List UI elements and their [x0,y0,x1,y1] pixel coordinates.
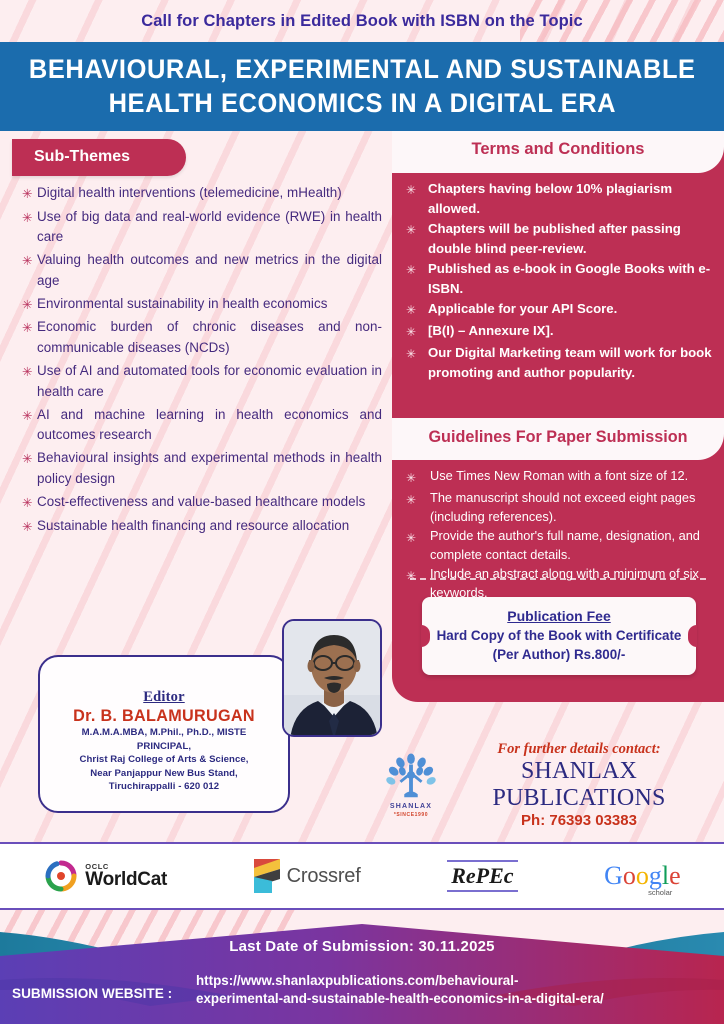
list-item: ✳Behavioural insights and experimental m… [22,448,382,489]
list-item-label: Environmental sustainability in health e… [37,294,382,315]
publisher-contact-text: For further details contact: SHANLAX PUB… [442,741,724,829]
list-item: ✳The manuscript should not exceed eight … [406,489,718,526]
list-item-label: Digital health interventions (telemedici… [37,183,382,204]
list-item: ✳Digital health interventions (telemedic… [22,183,382,204]
asterisk-bullet-icon: ✳ [22,294,37,315]
list-item: ✳Chapters having below 10% plagiarism al… [406,179,718,218]
subthemes-tab: Sub-Themes [12,139,186,176]
list-item-label: Published as e-book in Google Books with… [428,259,718,298]
terms-and-guidelines-panel: Terms and Conditions ✳Chapters having be… [392,131,724,702]
editor-name: Dr. B. BALAMURUGAN [40,707,288,726]
list-item: ✳Published as e-book in Google Books wit… [406,259,718,298]
list-item-label: Our Digital Marketing team will work for… [428,343,718,382]
publication-fee-line-2: (Per Author) Rs.800/- [493,645,626,664]
asterisk-bullet-icon: ✳ [22,361,37,382]
list-item-label: Valuing health outcomes and new metrics … [37,250,382,291]
editor-designation: PRINCIPAL, [40,740,288,754]
asterisk-bullet-icon: ✳ [406,343,428,364]
crossref-logo: Crossref [254,859,361,893]
crossref-label: Crossref [287,865,361,888]
guidelines-tab-label: Guidelines For Paper Submission [428,428,687,446]
list-item-label: Chapters will be published after passing… [428,219,718,258]
book-title-band: BEHAVIOURAL, EXPERIMENTAL AND SUSTAINABL… [0,42,724,131]
google-scholar-sublabel: scholar [648,889,672,897]
terms-tab: Terms and Conditions [392,131,724,173]
list-item: ✳Valuing health outcomes and new metrics… [22,250,382,291]
editor-institution: Christ Raj College of Arts & Science, [40,753,288,767]
footer-text-group: Last Date of Submission: 30.11.2025 SUBM… [0,910,724,1024]
list-item: ✳Use Times New Roman with a font size of… [406,467,718,488]
list-item-label: Provide the author's full name, designat… [430,527,718,564]
asterisk-bullet-icon: ✳ [22,516,37,537]
worldcat-label: WorldCat [85,870,167,889]
poster-root: Call for Chapters in Edited Book with IS… [0,0,724,1024]
list-item-label: Cost-effectiveness and value-based healt… [37,492,382,513]
asterisk-bullet-icon: ✳ [406,467,430,488]
asterisk-bullet-icon: ✳ [22,250,37,271]
publication-fee-line-1: Hard Copy of the Book with Certificate [437,626,682,645]
asterisk-bullet-icon: ✳ [406,259,428,280]
list-item-label: [B(I) – Annexure IX]. [428,321,718,341]
asterisk-bullet-icon: ✳ [406,299,428,320]
crossref-bars-icon [254,859,280,893]
editor-label: Editor [40,689,288,706]
editor-address-line-1: Near Panjappur New Bus Stand, [40,767,288,781]
terms-list: ✳Chapters having below 10% plagiarism al… [406,179,718,383]
crossref-icon [254,859,280,893]
list-item: ✳Provide the author's full name, designa… [406,527,718,564]
shanlax-logo-icon: SHANLAX *SINCE1990 [380,752,442,818]
asterisk-bullet-icon: ✳ [406,321,428,342]
list-item: ✳Use of AI and automated tools for econo… [22,361,382,402]
guidelines-tab: Guidelines For Paper Submission [392,418,724,460]
repec-label: RePEc [447,860,517,892]
editor-photo [282,619,382,737]
editor-card: Editor Dr. B. BALAMURUGAN M.A.M.A.MBA, M… [38,655,290,813]
editor-portrait-illustration [284,621,382,737]
asterisk-bullet-icon: ✳ [406,179,428,200]
publication-fee-box: Publication Fee Hard Copy of the Book wi… [422,597,696,675]
list-item: ✳[B(I) – Annexure IX]. [406,321,718,342]
editor-address-line-2: Tiruchirappalli - 620 012 [40,780,288,794]
book-title-line-1: BEHAVIOURAL, EXPERIMENTAL AND SUSTAINABL… [29,53,696,87]
editor-qualifications: M.A.M.A.MBA, M.Phil., Ph.D., MISTE [40,726,288,740]
asterisk-bullet-icon: ✳ [22,492,37,513]
asterisk-bullet-icon: ✳ [22,183,37,204]
list-item-label: Use of AI and automated tools for econom… [37,361,382,402]
dashed-divider [410,578,706,580]
list-item-label: Behavioural insights and experimental me… [37,448,382,489]
list-item-label: The manuscript should not exceed eight p… [430,489,718,526]
worldcat-icon [43,858,79,894]
list-item-label: Applicable for your API Score. [428,299,718,319]
list-item-label: Economic burden of chronic diseases and … [37,317,382,358]
subthemes-tab-label: Sub-Themes [34,148,130,165]
last-date-of-submission: Last Date of Submission: 30.11.2025 [0,938,724,955]
submission-website-url[interactable]: https://www.shanlaxpublications.com/beha… [196,972,716,1008]
list-item-label: Use Times New Roman with a font size of … [430,467,718,486]
google-scholar-logo: Google scholar [604,863,681,889]
submission-url-line-2: experimental-and-sustainable-health-econ… [196,990,716,1008]
worldcat-logo: OCLC WorldCat [43,858,167,894]
submission-website-label: SUBMISSION WEBSITE : [12,986,172,1001]
call-for-chapters-text: Call for Chapters in Edited Book with IS… [141,12,583,31]
call-for-chapters-ribbon: Call for Chapters in Edited Book with IS… [0,0,724,42]
footer-section: Last Date of Submission: 30.11.2025 SUBM… [0,910,724,1024]
list-item-label: Chapters having below 10% plagiarism all… [428,179,718,218]
asterisk-bullet-icon: ✳ [22,448,37,469]
shanlax-logo-name: SHANLAX [380,803,442,810]
list-item: ✳Chapters will be published after passin… [406,219,718,258]
google-scholar-wordmark: Google scholar [604,863,681,889]
list-item: ✳Environmental sustainability in health … [22,294,382,315]
repec-logo: RePEc [447,860,517,892]
worldcat-swirl-icon [43,858,79,894]
list-item-label: Sustainable health financing and resourc… [37,516,382,537]
list-item: ✳Cost-effectiveness and value-based heal… [22,492,382,513]
list-item: ✳Sustainable health financing and resour… [22,516,382,537]
guidelines-list: ✳Use Times New Roman with a font size of… [406,467,718,604]
asterisk-bullet-icon: ✳ [406,219,428,240]
publisher-phone: Ph: 76393 03383 [442,812,716,829]
worldcat-wordmark: OCLC WorldCat [85,863,167,890]
asterisk-bullet-icon: ✳ [406,565,430,586]
publisher-contact-block: SHANLAX *SINCE1990 For further details c… [372,742,724,828]
list-item-label: AI and machine learning in health econom… [37,405,382,446]
asterisk-bullet-icon: ✳ [22,405,37,426]
asterisk-bullet-icon: ✳ [22,317,37,338]
list-item: ✳Use of big data and real-world evidence… [22,207,382,248]
submission-url-line-1: https://www.shanlaxpublications.com/beha… [196,972,716,990]
book-title-line-2: HEALTH ECONOMICS IN A DIGITAL ERA [108,87,616,121]
publication-fee-title: Publication Fee [507,608,610,624]
indexing-logos-strip: OCLC WorldCat Crossref RePEc Google scho… [0,842,724,910]
list-item: ✳Our Digital Marketing team will work fo… [406,343,718,382]
shanlax-tree-icon [380,752,442,802]
publisher-name: SHANLAX PUBLICATIONS [442,758,716,811]
list-item: ✳AI and machine learning in health econo… [22,405,382,446]
list-item: ✳Applicable for your API Score. [406,299,718,320]
asterisk-bullet-icon: ✳ [406,489,430,510]
further-details-label: For further details contact: [442,741,716,758]
list-item: ✳Economic burden of chronic diseases and… [22,317,382,358]
list-item-label: Use of big data and real-world evidence … [37,207,382,248]
shanlax-logo-tagline: *SINCE1990 [380,812,442,818]
asterisk-bullet-icon: ✳ [22,207,37,228]
asterisk-bullet-icon: ✳ [406,527,430,548]
subthemes-list: ✳Digital health interventions (telemedic… [22,183,382,539]
terms-tab-label: Terms and Conditions [472,140,645,158]
